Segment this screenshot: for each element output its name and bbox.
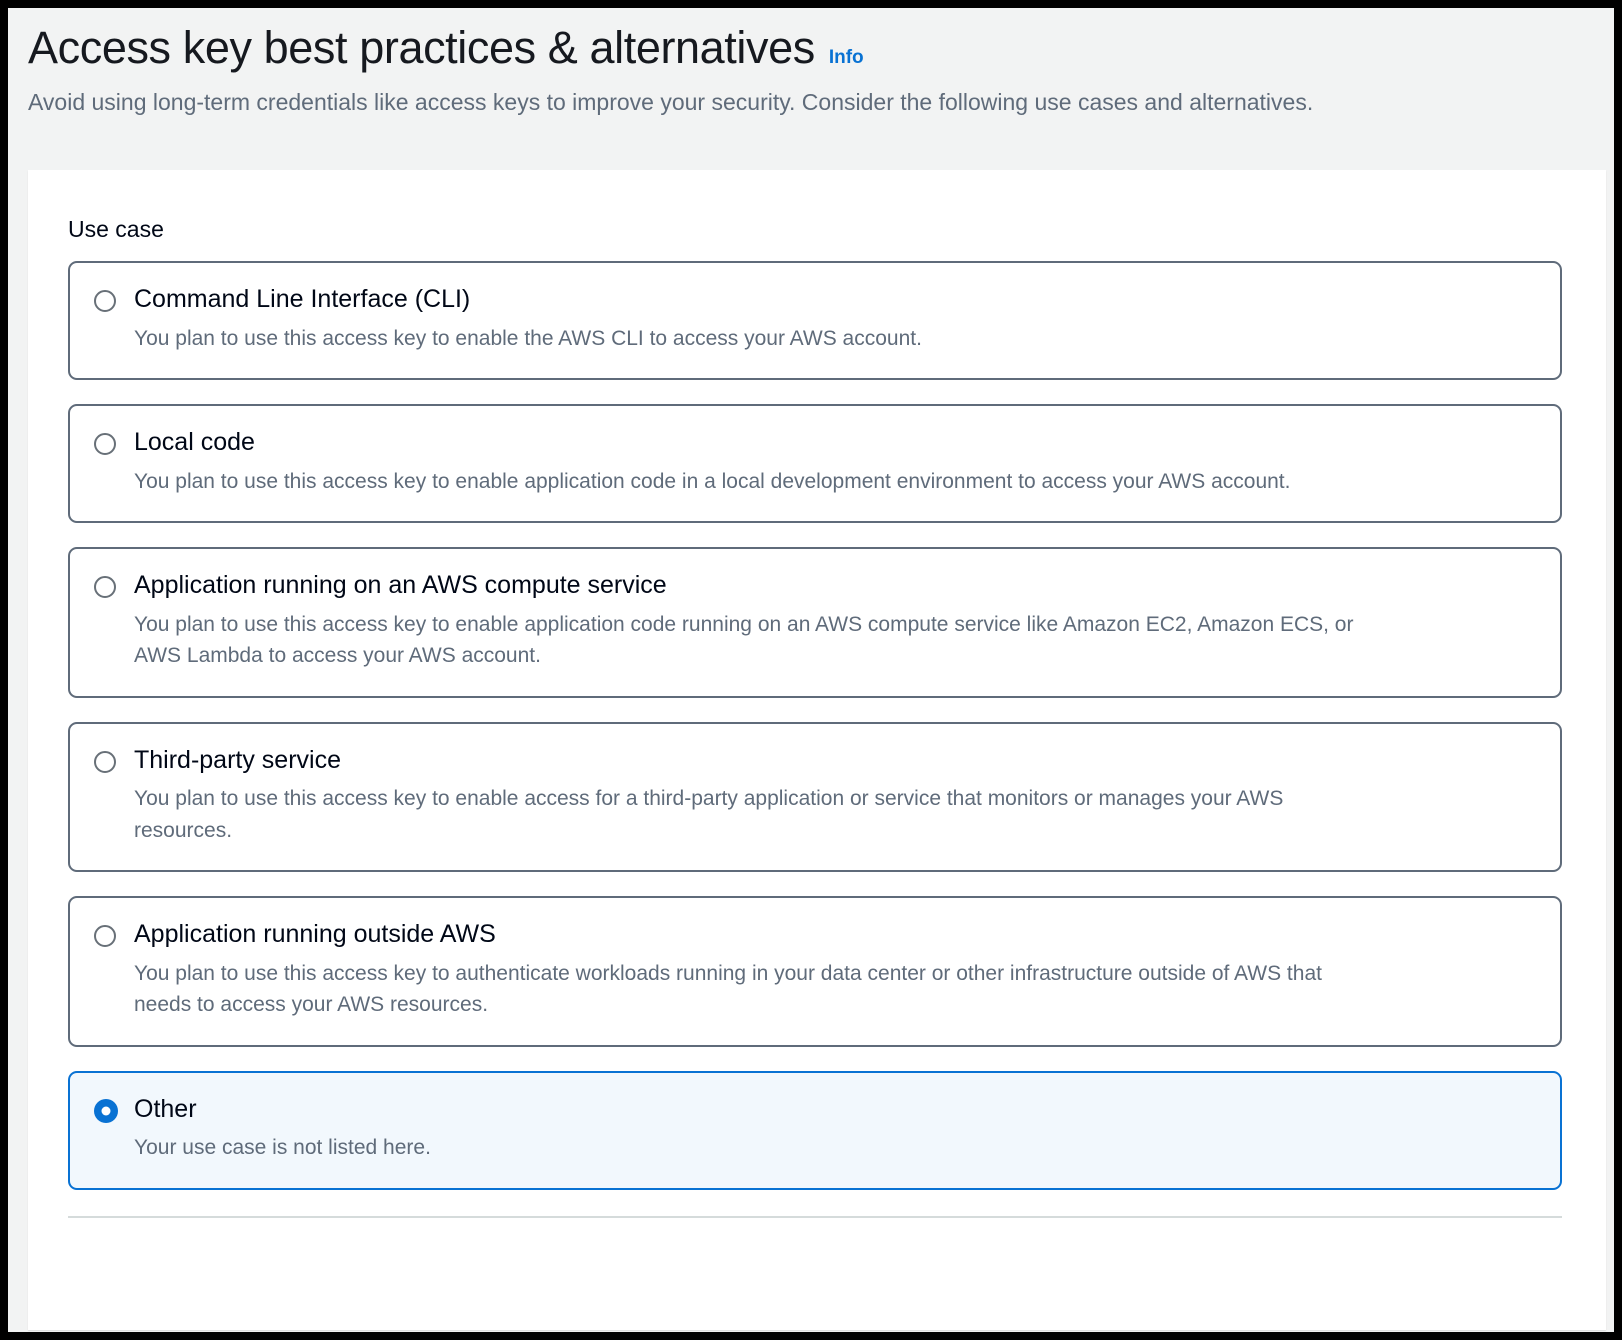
- radio-description-aws-compute: You plan to use this access key to enabl…: [134, 609, 1384, 672]
- radio-indicator-cli[interactable]: [94, 290, 116, 312]
- radio-indicator-other[interactable]: [94, 1099, 118, 1123]
- section-divider: [68, 1216, 1562, 1228]
- radio-title-local-code: Local code: [134, 428, 1536, 458]
- radio-description-cli: You plan to use this access key to enabl…: [134, 323, 1384, 355]
- page-title: Access key best practices & alternatives: [28, 22, 815, 74]
- radio-tile-third-party[interactable]: Third-party service You plan to use this…: [68, 722, 1562, 873]
- radio-tile-cli[interactable]: Command Line Interface (CLI) You plan to…: [68, 261, 1562, 380]
- page-header: Access key best practices & alternatives…: [8, 8, 1614, 170]
- page-viewport: Access key best practices & alternatives…: [8, 8, 1614, 1332]
- radio-indicator-local-code[interactable]: [94, 433, 116, 455]
- use-case-field-label: Use case: [28, 216, 1606, 243]
- use-case-radio-group[interactable]: Command Line Interface (CLI) You plan to…: [28, 261, 1606, 1190]
- content-card: Use case Command Line Interface (CLI) Yo…: [28, 170, 1606, 1330]
- radio-tile-aws-compute[interactable]: Application running on an AWS compute se…: [68, 547, 1562, 698]
- page-subtitle: Avoid using long-term credentials like a…: [28, 88, 1594, 118]
- radio-title-aws-compute: Application running on an AWS compute se…: [134, 571, 1536, 601]
- radio-title-other: Other: [134, 1095, 1536, 1125]
- radio-indicator-third-party[interactable]: [94, 751, 116, 773]
- radio-indicator-outside-aws[interactable]: [94, 925, 116, 947]
- radio-title-third-party: Third-party service: [134, 746, 1536, 776]
- title-row: Access key best practices & alternatives…: [28, 22, 1594, 74]
- info-link[interactable]: Info: [829, 47, 864, 69]
- browser-screen: Access key best practices & alternatives…: [0, 0, 1622, 1340]
- radio-description-other: Your use case is not listed here.: [134, 1132, 1384, 1164]
- radio-tile-local-code[interactable]: Local code You plan to use this access k…: [68, 404, 1562, 523]
- radio-description-outside-aws: You plan to use this access key to authe…: [134, 958, 1384, 1021]
- radio-title-cli: Command Line Interface (CLI): [134, 285, 1536, 315]
- radio-description-local-code: You plan to use this access key to enabl…: [134, 466, 1384, 498]
- radio-description-third-party: You plan to use this access key to enabl…: [134, 783, 1384, 846]
- radio-indicator-aws-compute[interactable]: [94, 576, 116, 598]
- radio-title-outside-aws: Application running outside AWS: [134, 920, 1536, 950]
- radio-tile-other[interactable]: Other Your use case is not listed here.: [68, 1071, 1562, 1190]
- radio-tile-outside-aws[interactable]: Application running outside AWS You plan…: [68, 896, 1562, 1047]
